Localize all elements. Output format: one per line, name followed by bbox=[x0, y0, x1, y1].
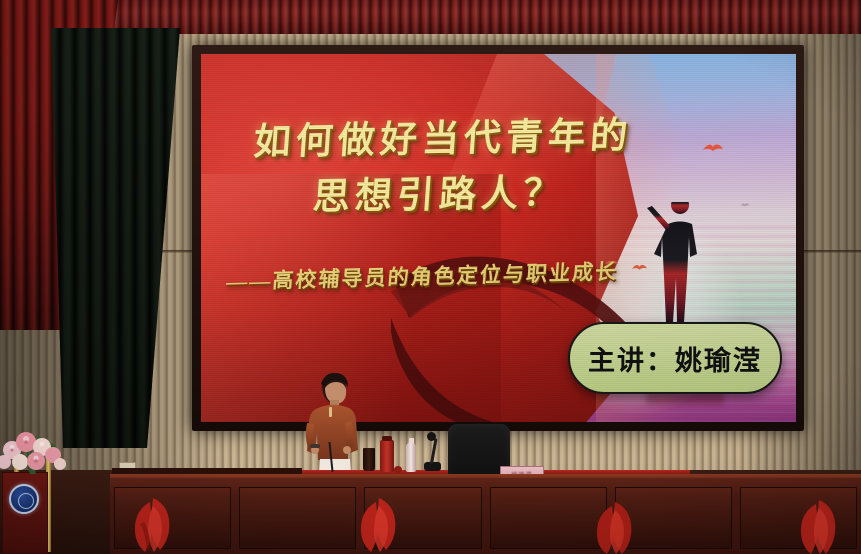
dark-cup[interactable] bbox=[363, 448, 375, 471]
front-red-flower bbox=[588, 492, 642, 554]
speaker-badge: 主讲：姚瑜滢 bbox=[568, 322, 782, 394]
slide-title: 如何做好当代青年的 思想引路人？ bbox=[227, 108, 655, 226]
scene-root: 如何做好当代青年的 思想引路人？ ——高校辅导员的角色定位与职业成长 主讲：姚瑜… bbox=[0, 0, 861, 554]
front-red-flower bbox=[126, 492, 180, 554]
led-screen-frame: 如何做好当代青年的 思想引路人？ ——高校辅导员的角色定位与职业成长 主讲：姚瑜… bbox=[192, 45, 804, 431]
institution-emblem-icon bbox=[9, 484, 39, 514]
podium-panel-group bbox=[110, 482, 861, 554]
water-bottle[interactable] bbox=[406, 443, 416, 472]
front-red-flower bbox=[792, 492, 846, 554]
microphone-head-icon bbox=[427, 432, 436, 441]
speaker-badge-label: 主讲：姚瑜滢 bbox=[588, 339, 762, 378]
bird-icon bbox=[740, 202, 750, 208]
podium-panel bbox=[239, 487, 356, 549]
red-thermos[interactable] bbox=[380, 440, 394, 472]
lily-flower-arrangement bbox=[0, 424, 68, 476]
bird-icon bbox=[702, 142, 724, 154]
front-red-flower bbox=[352, 492, 406, 554]
led-screen[interactable]: 如何做好当代青年的 思想引路人？ ——高校辅导员的角色定位与职业成长 主讲：姚瑜… bbox=[201, 54, 796, 422]
small-red-object[interactable] bbox=[394, 466, 402, 473]
